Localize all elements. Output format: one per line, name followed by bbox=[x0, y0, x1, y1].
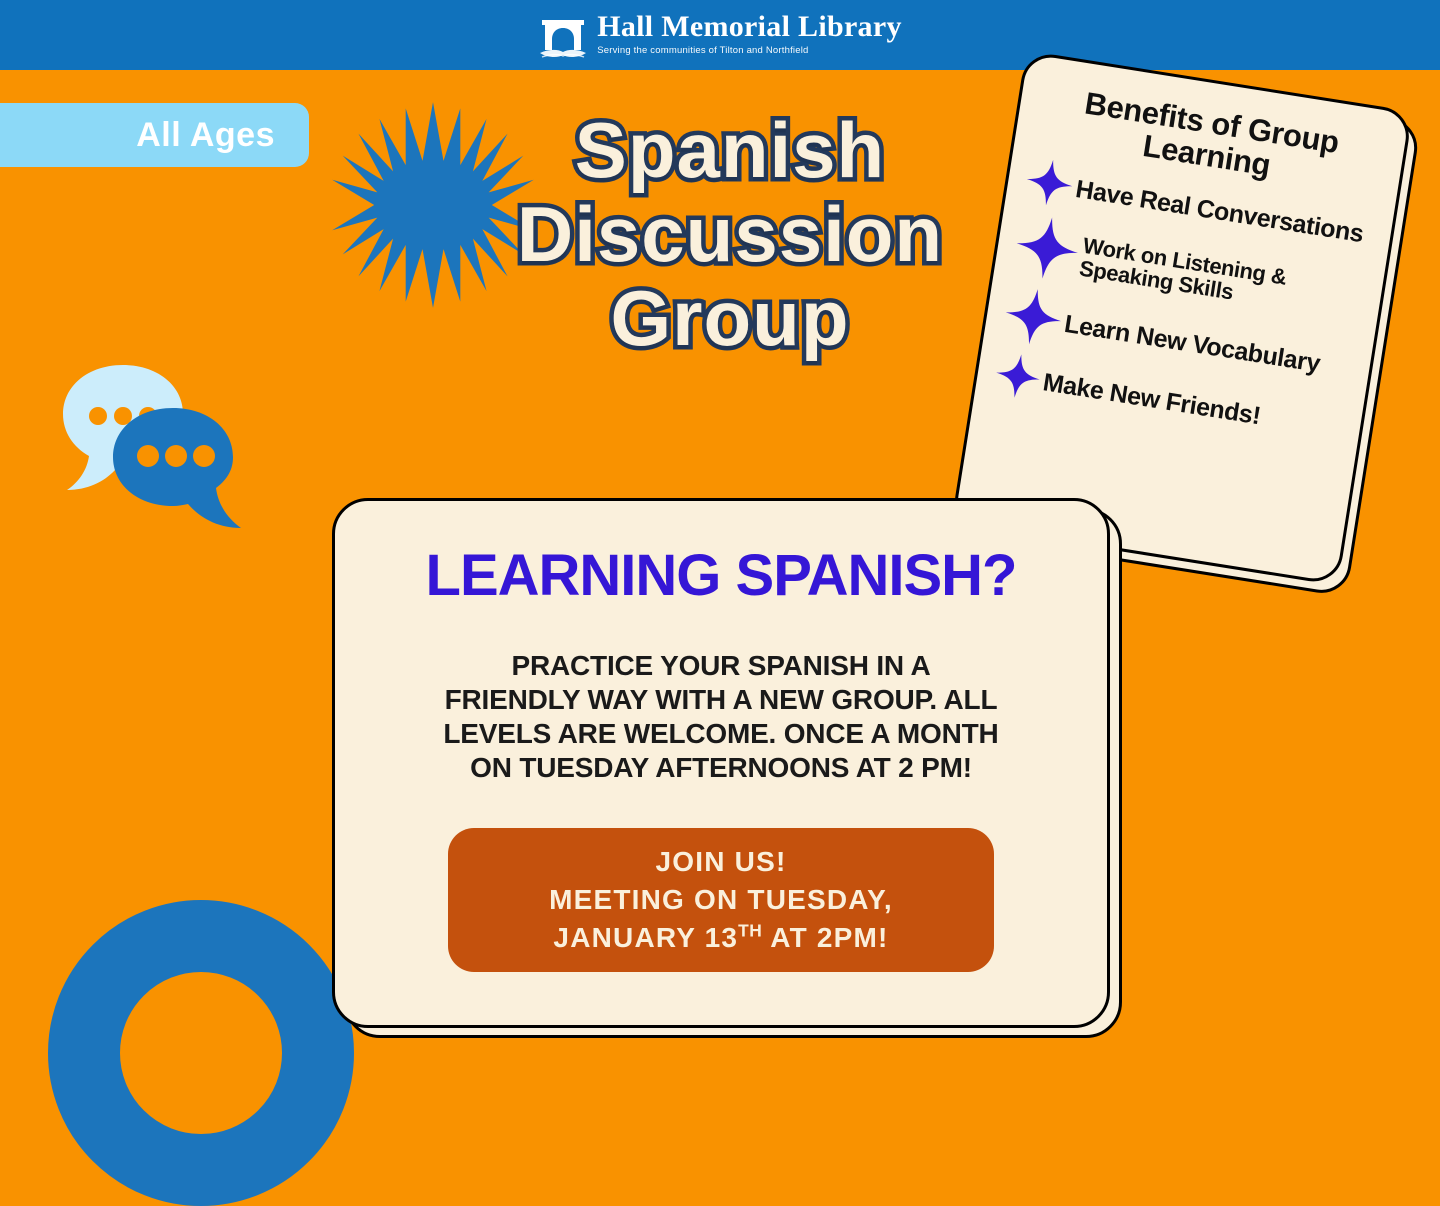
four-point-sparkle-icon bbox=[1022, 156, 1075, 214]
logo-title: Hall Memorial Library bbox=[597, 12, 902, 42]
all-ages-label: All Ages bbox=[136, 116, 275, 155]
four-point-sparkle-icon bbox=[1011, 213, 1083, 289]
header-bar: Hall Memorial Library Serving the commun… bbox=[0, 0, 1440, 70]
logo-subtitle: Serving the communities of Tilton and No… bbox=[597, 46, 808, 56]
cta-line-1: JOIN US! bbox=[656, 843, 787, 881]
all-ages-badge: All Ages bbox=[0, 103, 309, 167]
library-arch-book-icon bbox=[538, 6, 588, 62]
main-card: LEARNING SPANISH? PRACTICE YOUR SPANISH … bbox=[332, 498, 1110, 1028]
blue-starburst-icon bbox=[328, 100, 538, 310]
main-heading: LEARNING SPANISH? bbox=[426, 547, 1017, 605]
cta-date-post: AT 2PM! bbox=[762, 922, 888, 953]
four-point-sparkle-icon bbox=[992, 351, 1043, 406]
library-logo: Hall Memorial Library Serving the commun… bbox=[538, 6, 902, 62]
speech-bubbles-icon bbox=[55, 360, 255, 540]
blue-ring-icon bbox=[48, 900, 354, 1206]
cta-line-2: MEETING ON TUESDAY, bbox=[549, 881, 893, 919]
cta-date-pre: JANUARY 13 bbox=[553, 922, 738, 953]
four-point-sparkle-icon bbox=[1001, 285, 1066, 354]
main-body-text: PRACTICE YOUR SPANISH IN A FRIENDLY WAY … bbox=[441, 649, 1001, 786]
cta-date-ordinal: TH bbox=[738, 920, 762, 940]
join-us-button[interactable]: JOIN US! MEETING ON TUESDAY, JANUARY 13T… bbox=[448, 828, 994, 972]
cta-line-3: JANUARY 13TH AT 2PM! bbox=[553, 919, 888, 957]
